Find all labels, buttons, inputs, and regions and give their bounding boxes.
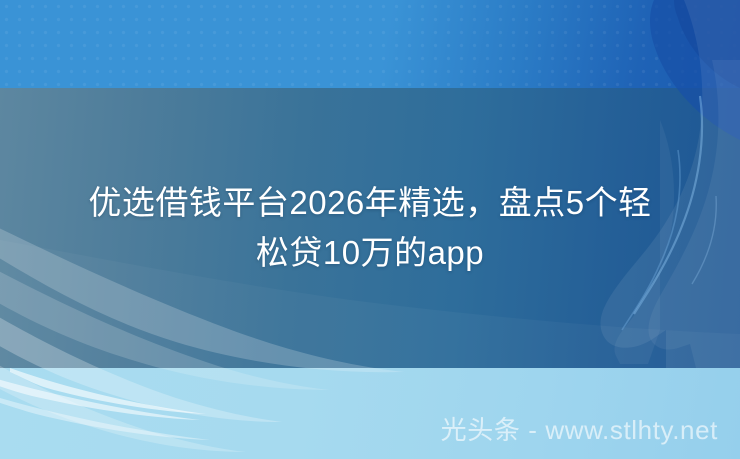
- banner-title-line-1: 优选借钱平台2026年精选，盘点5个轻: [18, 178, 722, 228]
- promo-banner: 优选借钱平台2026年精选，盘点5个轻 松贷10万的app 光头条 - www.…: [0, 0, 740, 459]
- site-watermark: 光头条 - www.stlhty.net: [441, 415, 718, 445]
- background-band-bottom: [0, 368, 740, 459]
- banner-title: 优选借钱平台2026年精选，盘点5个轻 松贷10万的app: [0, 178, 740, 278]
- banner-title-line-2: 松贷10万的app: [18, 228, 722, 278]
- dot-texture-overlay: [0, 0, 740, 88]
